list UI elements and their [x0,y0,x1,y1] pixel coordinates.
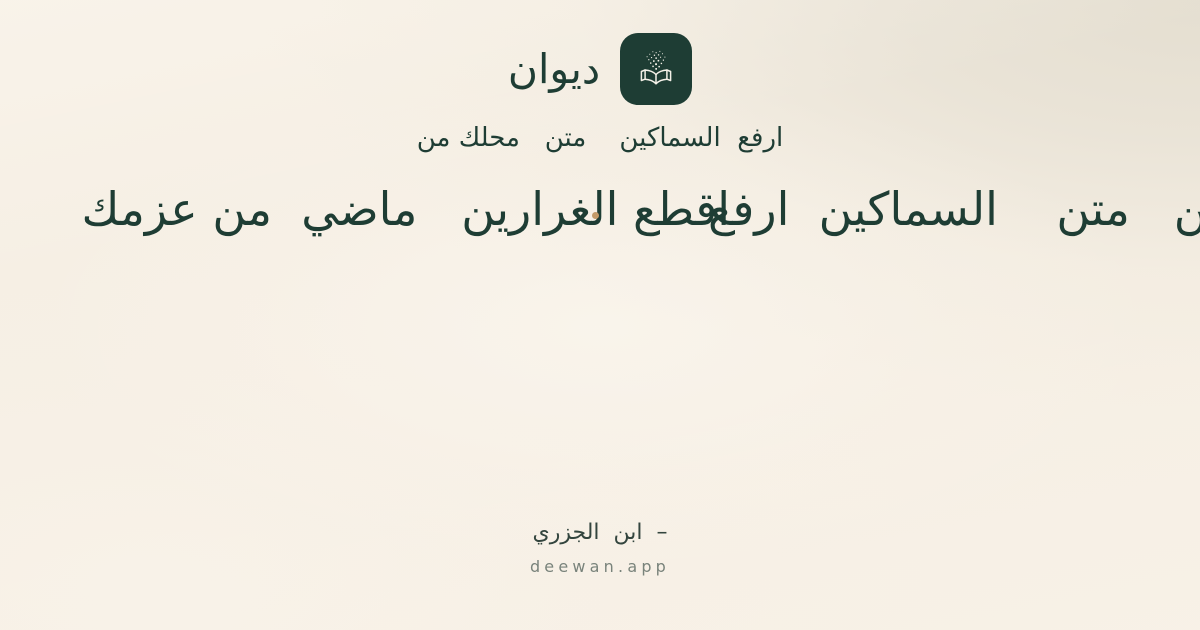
poet-attribution: – ابن الجزري [0,518,1200,549]
app-logo [620,33,692,105]
brand-name: ديوان [508,49,600,90]
verse-headline-primary: ك من متن السماكين ارفع [708,164,1200,254]
card-footer: – ابن الجزري deewan.app [0,518,1200,576]
brand-header: ديوان [0,33,1200,105]
diacritic-dot-icon [592,212,599,219]
verse-subtitle: ارفع السماكين متن محلك من [0,120,1200,156]
site-url: deewan.app [0,557,1200,576]
share-card: ديوان ارفع السماكين متن محلك من ك من متن… [0,0,1200,630]
verse-headline: ك من متن السماكين ارفع اقطع الغرارين ماض… [0,164,1200,254]
verse-headline-overlay: اقطع الغرارين ماضي من عزمك [82,164,730,254]
open-book-sparkles-icon [633,46,679,92]
card-content: ديوان ارفع السماكين متن محلك من ك من متن… [0,0,1200,630]
